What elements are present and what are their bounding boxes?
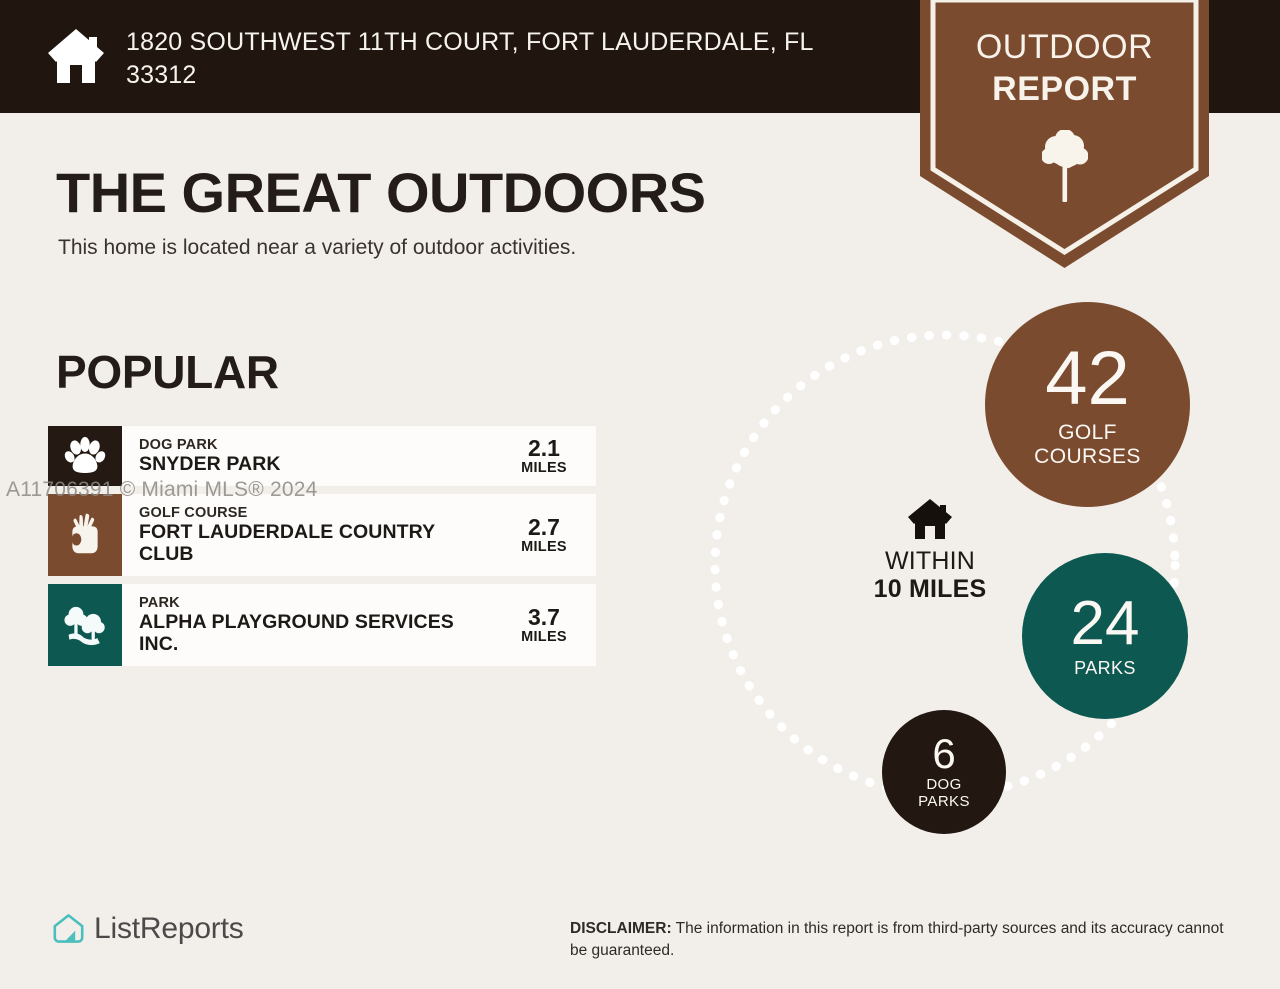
distance-unit: MILES xyxy=(521,460,567,476)
home-icon xyxy=(46,27,106,85)
page-subtitle: This home is located near a variety of o… xyxy=(58,236,576,260)
within-line1: WITHIN xyxy=(840,548,1020,575)
list-item-category: GOLF COURSE xyxy=(139,504,492,522)
badge-title-line2: REPORT xyxy=(920,68,1209,110)
stat-label: GOLF COURSES xyxy=(1034,421,1141,468)
list-item-name: SNYDER PARK xyxy=(139,454,492,476)
within-radius-label: WITHIN 10 MILES xyxy=(840,498,1020,605)
golf-bag-icon xyxy=(48,494,122,576)
section-heading-popular: POPULAR xyxy=(56,345,279,399)
tree-icon xyxy=(1042,130,1088,202)
list-item[interactable]: PARK ALPHA PLAYGROUND SERVICES INC. 3.7 … xyxy=(48,584,596,666)
property-address: 1820 SOUTHWEST 11TH COURT, FORT LAUDERDA… xyxy=(126,26,886,93)
disclaimer-label: DISCLAIMER: xyxy=(570,920,672,937)
disclaimer: DISCLAIMER: The information in this repo… xyxy=(570,918,1228,963)
distance-value: 2.1 xyxy=(528,436,560,460)
distance-unit: MILES xyxy=(521,539,567,555)
list-item[interactable]: DOG PARK SNYDER PARK 2.1 MILES xyxy=(48,426,596,486)
paw-print-icon xyxy=(48,426,122,486)
list-item-category: PARK xyxy=(139,594,492,612)
listreports-house-icon xyxy=(52,913,85,946)
stat-circle-golf-courses[interactable]: 42 GOLF COURSES xyxy=(985,302,1190,507)
badge-title: OUTDOOR REPORT xyxy=(920,26,1209,110)
distance-unit: MILES xyxy=(521,629,567,645)
stat-value: 42 xyxy=(1045,341,1130,417)
page-title: THE GREAT OUTDOORS xyxy=(56,160,706,225)
list-item-distance: 2.7 MILES xyxy=(498,494,596,576)
outdoor-report-badge: OUTDOOR REPORT xyxy=(920,0,1209,268)
list-item-category: DOG PARK xyxy=(139,436,492,454)
list-item[interactable]: GOLF COURSE FORT LAUDERDALE COUNTRY CLUB… xyxy=(48,494,596,576)
outdoor-report-page: 1820 SOUTHWEST 11TH COURT, FORT LAUDERDA… xyxy=(0,0,1280,989)
stat-label: PARKS xyxy=(1074,658,1136,678)
distance-value: 3.7 xyxy=(528,605,560,629)
list-item-distance: 3.7 MILES xyxy=(498,584,596,666)
stat-value: 6 xyxy=(932,733,955,775)
badge-title-line1: OUTDOOR xyxy=(920,26,1209,68)
listreports-logo[interactable]: ListReports xyxy=(52,912,244,946)
stat-circle-dog-parks[interactable]: 6 DOG PARKS xyxy=(882,710,1006,834)
outdoor-stats-infographic: 42 GOLF COURSES 24 PARKS 6 DOG PARKS xyxy=(690,280,1250,860)
distance-value: 2.7 xyxy=(528,515,560,539)
list-item-name: ALPHA PLAYGROUND SERVICES INC. xyxy=(139,612,492,656)
popular-list: DOG PARK SNYDER PARK 2.1 MILES xyxy=(48,426,596,674)
stat-circle-parks[interactable]: 24 PARKS xyxy=(1022,553,1188,719)
home-icon xyxy=(907,498,953,540)
list-item-distance: 2.1 MILES xyxy=(498,426,596,486)
listreports-wordmark: ListReports xyxy=(94,912,244,946)
stat-value: 24 xyxy=(1071,593,1140,655)
stat-label: DOG PARKS xyxy=(918,777,970,811)
trees-icon xyxy=(48,584,122,666)
within-line2: 10 MILES xyxy=(840,575,1020,605)
list-item-name: FORT LAUDERDALE COUNTRY CLUB xyxy=(139,522,492,566)
